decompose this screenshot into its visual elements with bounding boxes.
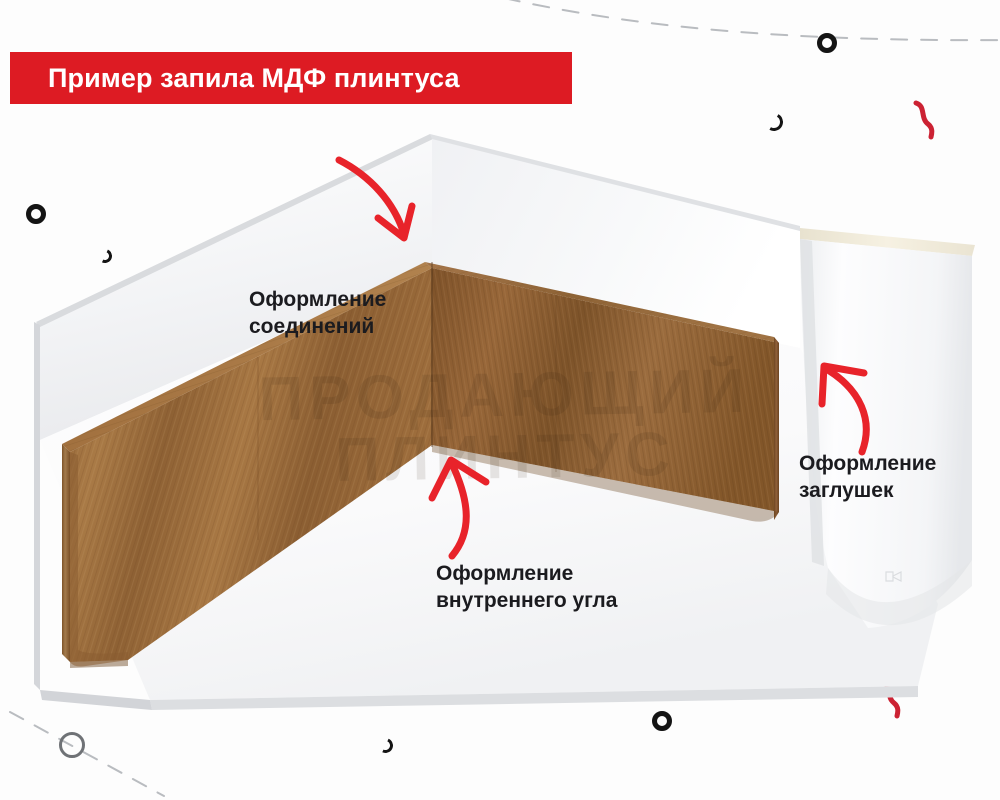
title-banner: Пример запила МДФ плинтуса — [10, 52, 572, 104]
baseboard-3d-illustration — [0, 0, 1000, 800]
annotation-label-joints: Оформление соединений — [249, 287, 386, 341]
page-title: Пример запила МДФ плинтуса — [10, 63, 460, 94]
annotation-label-inner-corner: Оформление внутреннего угла — [436, 561, 617, 615]
annotation-label-end-cap: Оформление заглушек — [799, 451, 936, 505]
infographic-canvas: ПРОДАЮЩИЙ ПЛИНТУС Пример запила МДФ плин… — [0, 0, 1000, 800]
